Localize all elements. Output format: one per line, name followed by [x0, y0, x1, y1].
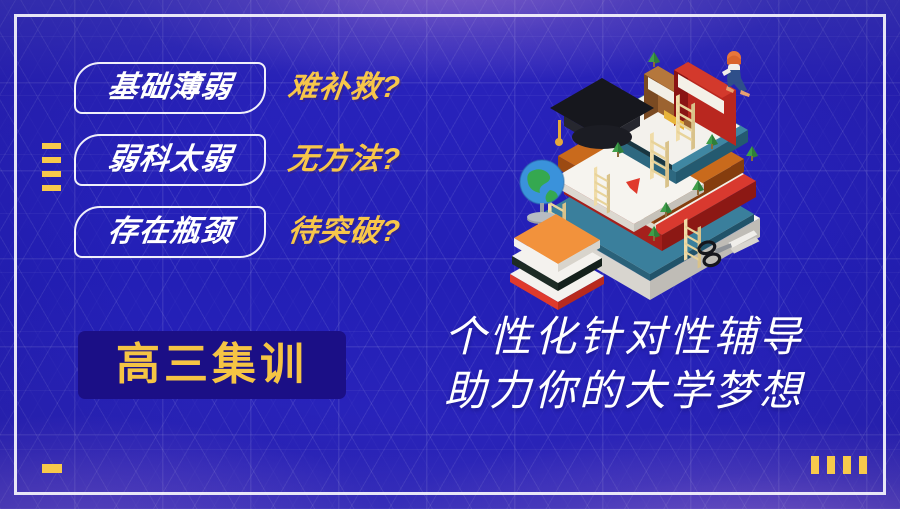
pain-point-row: 弱科太弱 无方法?: [74, 134, 400, 186]
bar-mark: [827, 456, 835, 474]
pain-point-question: 无方法?: [286, 145, 402, 175]
pain-point-label: 弱科太弱: [106, 145, 234, 175]
tagline-line-2: 助力你的大学梦想: [444, 364, 804, 418]
pain-point-row: 存在瓶颈 待突破?: [74, 206, 400, 258]
pain-point-label: 基础薄弱: [106, 73, 234, 103]
pain-point-row: 基础薄弱 难补救?: [74, 62, 400, 114]
isometric-book-stack-illustration: [498, 38, 798, 308]
headline-text: 高三集训: [116, 343, 308, 387]
bar-mark: [859, 456, 867, 474]
pain-point-question: 难补救?: [286, 73, 402, 103]
tree: [648, 52, 660, 67]
dash-mark: [42, 157, 61, 163]
left-dash-marks: [42, 143, 61, 191]
pain-point-question: 待突破?: [286, 217, 402, 247]
bar-mark: [843, 456, 851, 474]
tagline-block: 个性化针对性辅导 助力你的大学梦想: [444, 310, 804, 418]
pain-point-pill-3: 存在瓶颈: [74, 206, 266, 258]
pain-point-pill-1: 基础薄弱: [74, 62, 266, 114]
pain-point-list: 基础薄弱 难补救? 弱科太弱 无方法? 存在瓶颈 待突破?: [74, 62, 400, 278]
pain-point-pill-2: 弱科太弱: [74, 134, 266, 186]
dash-mark: [42, 185, 61, 191]
headline-badge: 高三集训: [78, 331, 346, 399]
banner-canvas: 基础薄弱 难补救? 弱科太弱 无方法? 存在瓶颈 待突破? 高三集训 个性化针对…: [0, 0, 900, 509]
tagline-line-1: 个性化针对性辅导: [444, 310, 804, 364]
dash-mark: [42, 143, 61, 149]
bar-mark: [811, 456, 819, 474]
pain-point-label: 存在瓶颈: [106, 217, 234, 247]
dash-mark: [42, 171, 61, 177]
bottom-right-bar-marks: [811, 456, 867, 474]
bottom-left-dash-mark: [42, 464, 62, 473]
tree: [746, 146, 758, 161]
